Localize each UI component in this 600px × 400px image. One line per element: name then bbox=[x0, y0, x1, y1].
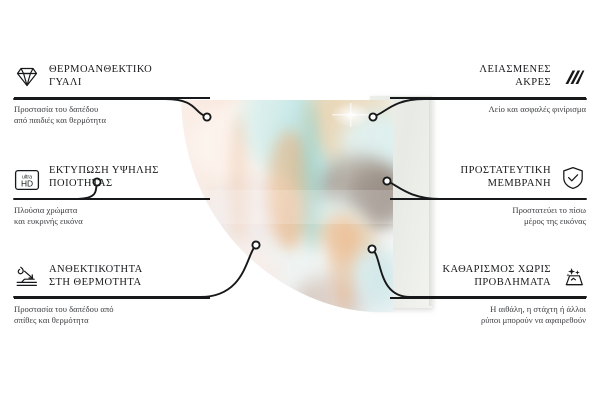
feature-block-heat-resistant-glass: ΘΕΡΜΟΑΝΘΕΚΤΙΚΟ ΓΥΑΛΙ Προστασία του δαπέδ… bbox=[14, 62, 210, 126]
feature-description: Προστασία του δαπέδου από παιδιές και θε… bbox=[14, 104, 210, 127]
feature-description: Πλούσια χρώματα και ευκρινής εικόνα bbox=[14, 205, 210, 228]
ink-artwork bbox=[181, 94, 393, 312]
feature-title: ΛΕΙΑΣΜΕΝΕΣ ΑΚΡΕΣ bbox=[479, 64, 551, 89]
divider bbox=[14, 198, 210, 200]
divider bbox=[14, 97, 210, 99]
feature-description: Προστασία του δαπέδου από σπίθες και θερ… bbox=[14, 304, 210, 327]
diamond-icon bbox=[14, 64, 40, 90]
divider bbox=[390, 97, 586, 99]
feature-block-polished-edges: ΛΕΙΑΣΜΕΝΕΣ ΑΚΡΕΣ Λείο και ασφαλές φινίρι… bbox=[390, 62, 586, 115]
feature-title: ΑΝΘΕΚΤΙΚΟΤΗΤΑ ΣΤΗ ΘΕΡΜΟΤΗΤΑ bbox=[49, 264, 143, 289]
feature-header: ΘΕΡΜΟΑΝΘΕΚΤΙΚΟ ΓΥΑΛΙ bbox=[14, 62, 210, 92]
feature-header: ΑΝΘΕΚΤΙΚΟΤΗΤΑ ΣΤΗ ΘΕΡΜΟΤΗΤΑ bbox=[14, 262, 210, 292]
feature-header: ΚΑΘΑΡΙΣΜΟΣ ΧΩΡΙΣ ΠΡΟΒΛΗΜΑΤΑ bbox=[390, 262, 586, 292]
heat-resistance-icon bbox=[14, 264, 40, 290]
feature-header: ΛΕΙΑΣΜΕΝΕΣ ΑΚΡΕΣ bbox=[390, 62, 586, 92]
feature-block-heat-resistance: ΑΝΘΕΚΤΙΚΟΤΗΤΑ ΣΤΗ ΘΕΡΜΟΤΗΤΑ Προστασία το… bbox=[14, 262, 210, 326]
svg-text:HD: HD bbox=[21, 179, 33, 189]
divider bbox=[14, 297, 210, 299]
feature-block-easy-cleaning: ΚΑΘΑΡΙΣΜΟΣ ΧΩΡΙΣ ΠΡΟΒΛΗΜΑΤΑ Η αιθάλη, η … bbox=[390, 262, 586, 326]
ultra-hd-icon: ultra HD bbox=[14, 167, 40, 189]
feature-block-protective-film: ΠΡΟΣΤΑΤΕΥΤΙΚΗ ΜΕΜΒΡΑΝΗ Προστατεύει το πί… bbox=[390, 163, 586, 227]
feature-description: Προστατεύει το πίσω μέρος της εικόνας bbox=[390, 205, 586, 228]
feature-description: Λείο και ασφαλές φινίρισμα bbox=[390, 104, 586, 115]
feature-header: ultra HD ΕΚΤΥΠΩΣΗ ΥΨΗΛΗΣ ΠΟΙΟΤΗΤΑΣ bbox=[14, 163, 210, 193]
divider bbox=[390, 297, 586, 299]
glass-panel-artwork bbox=[181, 94, 393, 312]
feature-header: ΠΡΟΣΤΑΤΕΥΤΙΚΗ ΜΕΜΒΡΑΝΗ bbox=[390, 163, 586, 193]
feature-title: ΚΑΘΑΡΙΣΜΟΣ ΧΩΡΙΣ ΠΡΟΒΛΗΜΑΤΑ bbox=[442, 264, 551, 289]
feature-title: ΘΕΡΜΟΑΝΘΕΚΤΙΚΟ ΓΥΑΛΙ bbox=[49, 64, 152, 89]
product-image bbox=[175, 80, 425, 330]
infographic-stage: ΘΕΡΜΟΑΝΘΕΚΤΙΚΟ ΓΥΑΛΙ Προστασία του δαπέδ… bbox=[0, 0, 600, 400]
feature-title: ΕΚΤΥΠΩΣΗ ΥΨΗΛΗΣ ΠΟΙΟΤΗΤΑΣ bbox=[49, 165, 159, 190]
easy-cleaning-icon bbox=[560, 264, 586, 290]
feature-description: Η αιθάλη, η στάχτη ή άλλοι ρύποι μπορούν… bbox=[390, 304, 586, 327]
polished-edges-icon bbox=[560, 64, 586, 90]
feature-block-high-quality-print: ultra HD ΕΚΤΥΠΩΣΗ ΥΨΗΛΗΣ ΠΟΙΟΤΗΤΑΣ Πλούσ… bbox=[14, 163, 210, 227]
divider bbox=[390, 198, 586, 200]
shield-check-icon bbox=[560, 165, 586, 191]
feature-title: ΠΡΟΣΤΑΤΕΥΤΙΚΗ ΜΕΜΒΡΑΝΗ bbox=[461, 165, 551, 190]
